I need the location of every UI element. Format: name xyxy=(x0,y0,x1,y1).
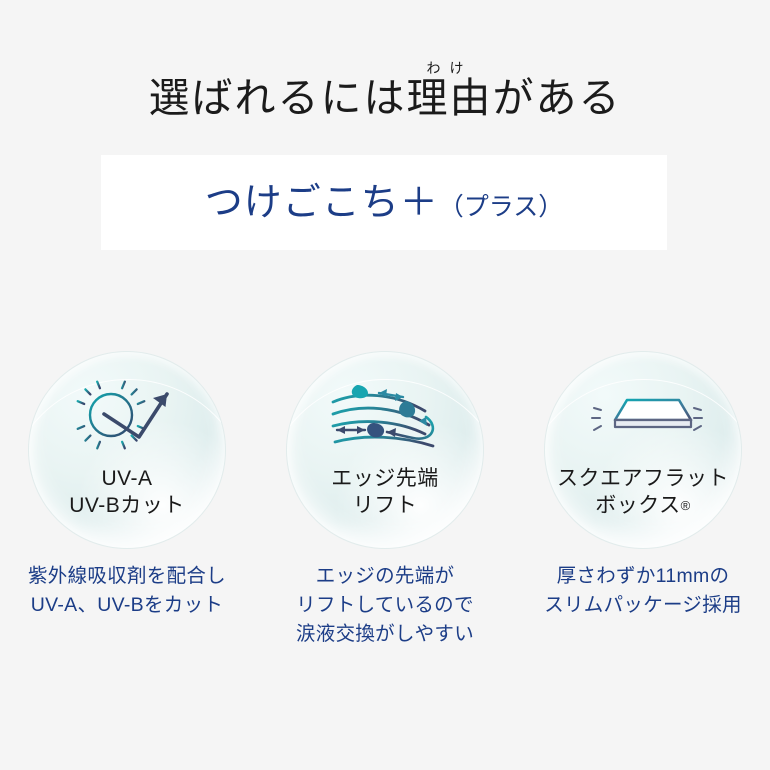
feature-caption-flat-box: 厚さわずか11mmの スリムパッケージ採用 xyxy=(544,562,742,620)
caption-line2: UV-A、UV-Bをカット xyxy=(28,591,226,620)
caption-line1: エッジの先端が xyxy=(296,562,474,591)
feature-label-line1: エッジ先端 xyxy=(331,466,439,493)
page-title: 選ばれるには理由わけがある xyxy=(149,62,622,119)
caption-line1: 紫外線吸収剤を配合し xyxy=(28,562,226,591)
feature-bubble-uv-cut: UV-A UV-Bカット xyxy=(29,352,225,548)
headline-part2: がある xyxy=(493,75,622,121)
feature-bubble-edge-lift: エッジ先端 リフト xyxy=(287,352,483,548)
headline-part1: 選ばれるには xyxy=(149,75,407,121)
uv-sun-block-icon xyxy=(73,378,181,456)
registered-trademark-symbol: ® xyxy=(681,498,691,513)
feature-list: UV-A UV-Bカット 紫外線吸収剤を配合し UV-A、UV-Bをカット xyxy=(0,352,770,649)
headline-ruby-base: 理由 xyxy=(407,75,493,121)
feature-label-line1: スクエアフラット xyxy=(557,466,729,493)
feature-label-line2-wrap: ボックス® xyxy=(557,493,729,520)
feature-label-edge-lift: エッジ先端 リフト xyxy=(331,466,439,520)
subtitle-paren: （プラス） xyxy=(439,194,564,221)
feature-label-line2: UV-Bカット xyxy=(69,493,185,520)
edge-lift-tear-flow-icon xyxy=(329,378,441,456)
feature-item-flat-box: スクエアフラット ボックス® 厚さわずか11mmの スリムパッケージ採用 xyxy=(518,352,768,649)
subtitle-panel: つけごこち＋（プラス） xyxy=(101,155,667,250)
feature-label-uv-cut: UV-A UV-Bカット xyxy=(69,466,185,520)
headline-ruby-group: 理由わけ xyxy=(407,75,493,121)
caption-line2: リフトしているので xyxy=(296,591,474,620)
feature-caption-edge-lift: エッジの先端が リフトしているので 涙液交換がしやすい xyxy=(296,562,474,649)
feature-label-line2: ボックス xyxy=(595,494,680,517)
feature-item-edge-lift: エッジ先端 リフト エッジの先端が リフトしているので 涙液交換がしやすい xyxy=(260,352,510,649)
feature-label-line1: UV-A xyxy=(69,466,185,493)
square-flat-box-icon xyxy=(581,378,705,456)
headline-section: 選ばれるには理由わけがある xyxy=(0,62,770,119)
feature-bubble-flat-box: スクエアフラット ボックス® xyxy=(545,352,741,548)
subtitle-main: つけごこち＋ xyxy=(205,182,439,224)
caption-line3: 涙液交換がしやすい xyxy=(296,620,474,649)
feature-label-flat-box: スクエアフラット ボックス® xyxy=(557,466,729,520)
headline-furigana: わけ xyxy=(407,62,493,77)
feature-label-line2: リフト xyxy=(331,493,439,520)
feature-caption-uv-cut: 紫外線吸収剤を配合し UV-A、UV-Bをカット xyxy=(28,562,226,620)
subtitle-text: つけごこち＋（プラス） xyxy=(205,184,564,222)
caption-line2: スリムパッケージ採用 xyxy=(544,591,742,620)
caption-line1: 厚さわずか11mmの xyxy=(544,562,742,591)
feature-item-uv-cut: UV-A UV-Bカット 紫外線吸収剤を配合し UV-A、UV-Bをカット xyxy=(2,352,252,649)
